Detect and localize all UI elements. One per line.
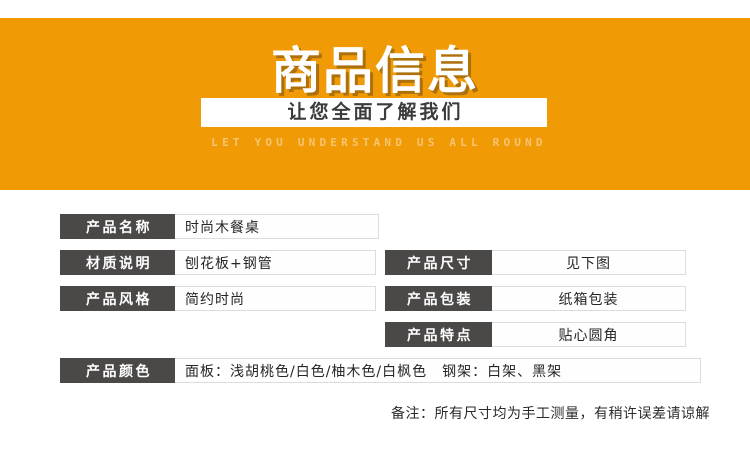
spec-label-product-name: 产品名称 <box>60 214 175 239</box>
spec-value-material: 刨花板+钢管 <box>175 250 376 275</box>
product-info-banner: 商品信息 让您全面了解我们 LET YOU UNDERSTAND US ALL … <box>0 18 750 190</box>
subtitle-en: LET YOU UNDERSTAND US ALL ROUND <box>0 136 750 150</box>
spec-label-size: 产品尺寸 <box>385 250 492 275</box>
spec-value-style: 简约时尚 <box>175 286 376 311</box>
subtitle-bar: 让您全面了解我们 <box>201 98 547 127</box>
spec-value-size: 见下图 <box>492 250 686 275</box>
table-row: 产品特点 贴心圆角 <box>385 322 686 347</box>
subtitle-cn: 让您全面了解我们 <box>284 103 463 122</box>
spec-value-product-name: 时尚木餐桌 <box>175 214 379 239</box>
spec-value-package: 纸箱包装 <box>492 286 686 311</box>
spec-value-feature: 贴心圆角 <box>492 322 686 347</box>
table-row: 产品颜色 面板：浅胡桃色/白色/柚木色/白枫色 钢架：白架、黑架 <box>60 358 701 383</box>
table-row: 产品尺寸 见下图 <box>385 250 686 275</box>
spec-label-feature: 产品特点 <box>385 322 492 347</box>
spec-label-package: 产品包装 <box>385 286 492 311</box>
table-row: 产品名称 时尚木餐桌 <box>60 214 379 239</box>
spec-label-material: 材质说明 <box>60 250 175 275</box>
spec-label-color: 产品颜色 <box>60 358 175 383</box>
page-title: 商品信息 <box>0 42 750 100</box>
spec-label-style: 产品风格 <box>60 286 175 311</box>
measurement-note: 备注：所有尺寸均为手工测量，有稍许误差请谅解 <box>391 405 710 423</box>
table-row: 材质说明 刨花板+钢管 <box>60 250 376 275</box>
spec-value-color: 面板：浅胡桃色/白色/柚木色/白枫色 钢架：白架、黑架 <box>175 358 701 383</box>
table-row: 产品风格 简约时尚 <box>60 286 376 311</box>
table-row: 产品包装 纸箱包装 <box>385 286 686 311</box>
